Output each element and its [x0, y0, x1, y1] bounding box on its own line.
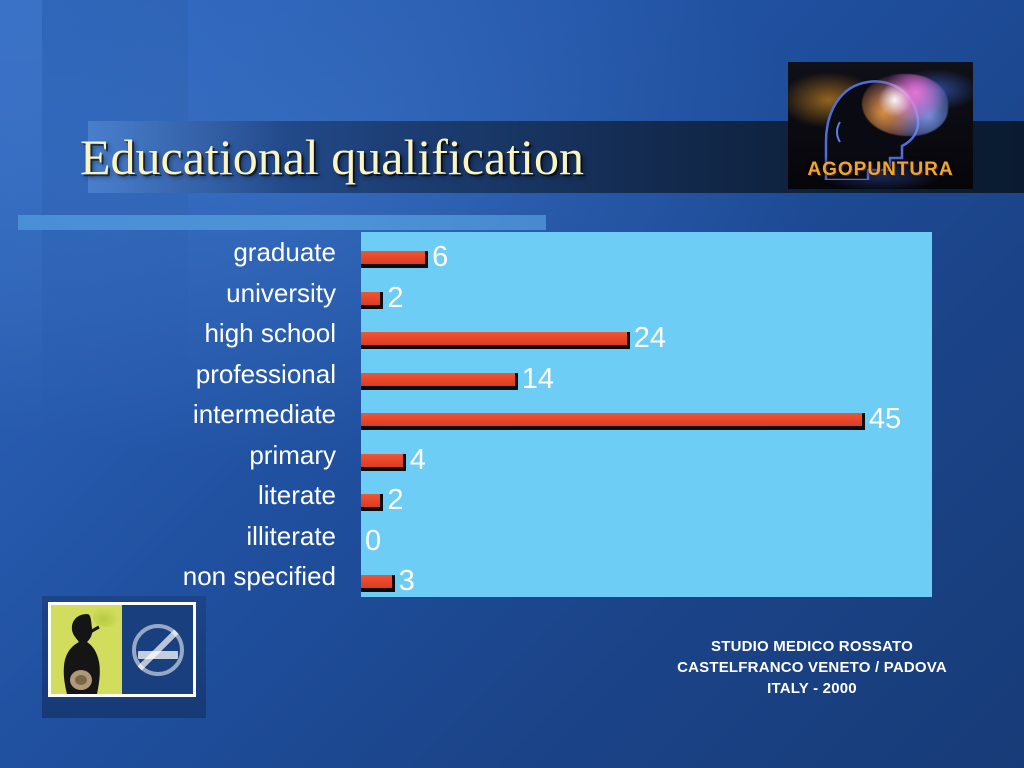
no-smoking-icon: [122, 605, 193, 694]
chart-bars: 6 2 24 14 45 4 2 0: [361, 232, 932, 597]
chart-bar-row: 14: [361, 354, 932, 395]
chart-bar-value: 45: [869, 402, 901, 436]
credit-block: STUDIO MEDICO ROSSATO CASTELFRANCO VENET…: [600, 636, 1024, 699]
chart-bar-row: 0: [361, 516, 932, 557]
chart-bar-value: 2: [387, 483, 403, 517]
background-band-left: [0, 0, 42, 768]
chart-bar-value: 4: [410, 443, 426, 477]
chart-category-label: literate: [120, 475, 336, 516]
brain-glow-icon: [862, 74, 948, 136]
agopuntura-logo: AGOPUNTURA: [788, 62, 973, 189]
chart-bar: [361, 494, 383, 511]
chart-bar-row: 6: [361, 232, 932, 273]
chart-bar: [361, 373, 518, 390]
chart-bar-value: 0: [365, 524, 381, 558]
smoker-silhouette-icon: [57, 612, 109, 694]
chart-bar-value: 2: [387, 281, 403, 315]
chart-bar: [361, 413, 865, 430]
chart-category-label: non specified: [120, 556, 336, 597]
chart-bar-row: 2: [361, 475, 932, 516]
chart-bar-value: 6: [432, 240, 448, 274]
photo-inner: [51, 605, 193, 694]
chart-bar-row: 4: [361, 435, 932, 476]
photo-frame: [48, 602, 196, 697]
chart-bar: [361, 332, 630, 349]
chart-category-label: graduate: [120, 232, 336, 273]
chart-category-label: illiterate: [120, 516, 336, 557]
chart-bar-value: 24: [634, 321, 666, 355]
page-title: Educational qualification: [80, 128, 780, 186]
chart-bar: [361, 292, 383, 309]
chart-category-label: high school: [120, 313, 336, 354]
chart-category-label: intermediate: [120, 394, 336, 435]
chart-bar-row: 45: [361, 394, 932, 435]
chart-bar: [361, 251, 428, 268]
chart-category-label: primary: [120, 435, 336, 476]
chart-bar-row: 2: [361, 273, 932, 314]
chart-category-axis: graduate university high school professi…: [120, 232, 336, 597]
logo-caption: AGOPUNTURA: [788, 159, 973, 181]
chart-category-label: university: [120, 273, 336, 314]
chart-bar-row: 3: [361, 556, 932, 597]
chart-bar: [361, 575, 395, 592]
pregnant-smoker-icon: [51, 605, 122, 694]
credit-line-1: STUDIO MEDICO ROSSATO: [600, 636, 1024, 657]
credit-line-2: CASTELFRANCO VENETO / PADOVA: [600, 657, 1024, 678]
slide: Educational qualification AGOPUNTURA gra…: [0, 0, 1024, 768]
chart-category-label: professional: [120, 354, 336, 395]
title-underline-bar: [18, 215, 546, 230]
credit-line-3: ITALY - 2000: [600, 678, 1024, 699]
chart-bar-value: 14: [522, 362, 554, 396]
chart-bar-row: 24: [361, 313, 932, 354]
chart-bar-value: 3: [399, 564, 415, 598]
chart-bar: [361, 454, 406, 471]
